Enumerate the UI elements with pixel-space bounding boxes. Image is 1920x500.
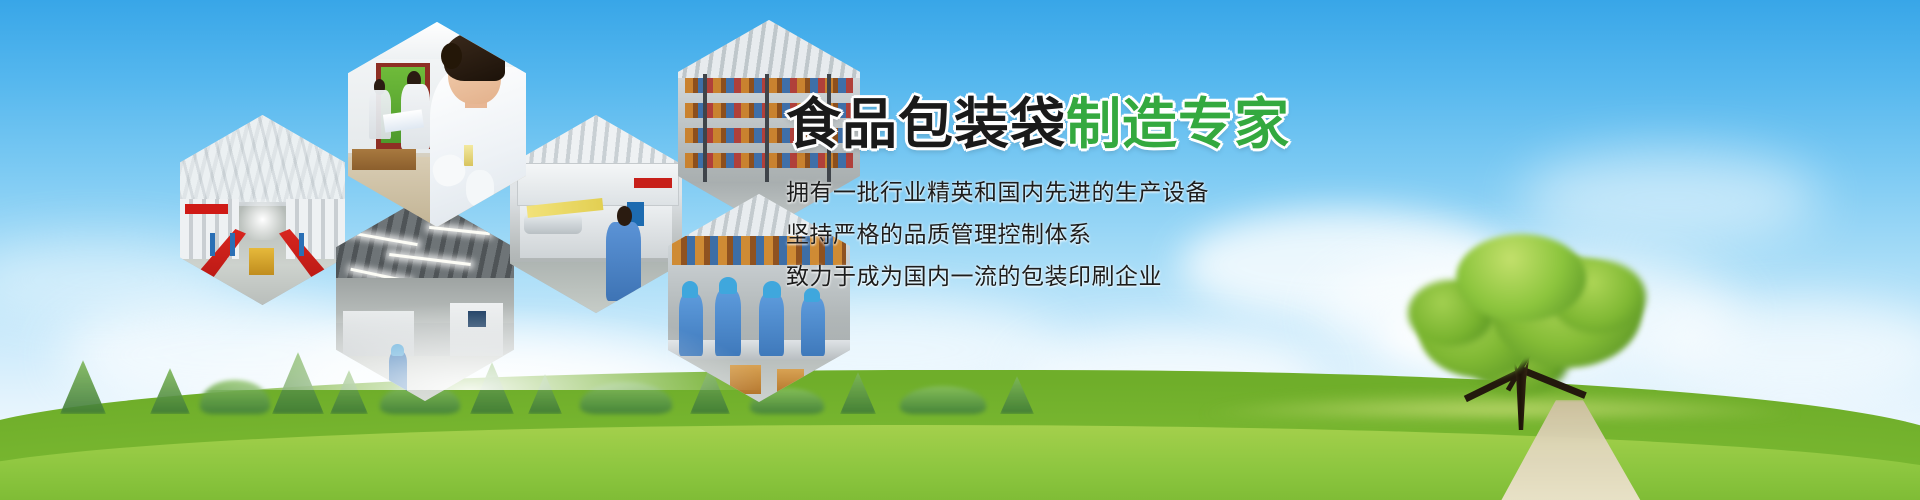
hex-photo-quality-lab-inspection[interactable] — [348, 22, 526, 227]
hexagon-photo-collage — [150, 0, 790, 360]
pine-tree-icon — [840, 372, 876, 414]
lab-inspection-photo — [348, 22, 526, 227]
headline: 食品包装袋制造专家 — [786, 96, 1526, 154]
headline-sublines: 拥有一批行业精英和国内先进的生产设备 坚持严格的品质管理控制体系 致力于成为国内… — [786, 182, 1526, 289]
printing-press-photo — [510, 115, 682, 313]
pine-tree-icon — [60, 360, 106, 414]
pine-tree-icon — [150, 368, 190, 414]
hex-photo-factory-hall-red-carpet[interactable] — [180, 115, 345, 305]
pine-tree-icon — [272, 352, 324, 414]
headline-dark-part: 食品包装袋 — [786, 92, 1066, 156]
subline-3: 致力于成为国内一流的包装印刷企业 — [786, 266, 1526, 289]
banner-text-block: 食品包装袋制造专家 拥有一批行业精英和国内先进的生产设备 坚持严格的品质管理控制… — [786, 96, 1526, 289]
subline-2: 坚持严格的品质管理控制体系 — [786, 224, 1526, 247]
bush-icon — [580, 382, 672, 414]
bush-icon — [200, 380, 270, 414]
hero-banner: 食品包装袋制造专家 拥有一批行业精英和国内先进的生产设备 坚持严格的品质管理控制… — [0, 0, 1920, 500]
subline-1: 拥有一批行业精英和国内先进的生产设备 — [786, 182, 1526, 205]
pine-tree-icon — [1000, 376, 1034, 414]
bush-icon — [900, 386, 986, 414]
headline-green-part: 制造专家 — [1066, 92, 1290, 156]
hex-photo-printing-press-operator[interactable] — [510, 115, 682, 313]
factory-hall-photo — [180, 115, 345, 305]
pine-tree-icon — [330, 370, 368, 414]
pine-tree-icon — [528, 374, 562, 414]
